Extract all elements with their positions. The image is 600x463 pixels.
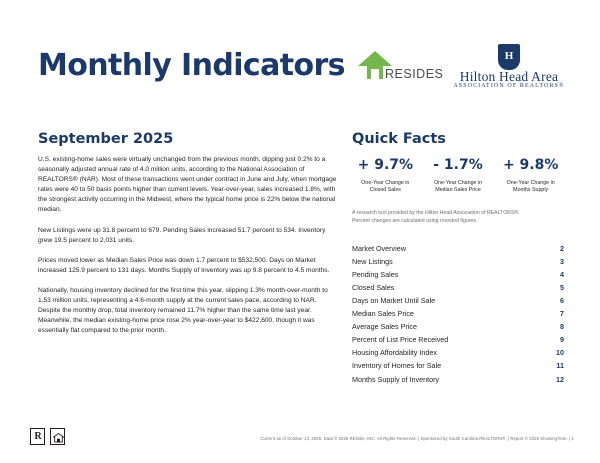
paragraph-1: U.S. existing-home sales were virtually …	[38, 155, 338, 216]
toc-label: Average Sales Price	[352, 320, 417, 333]
resides-logo: RESIDES	[358, 45, 432, 91]
toc-page: 5	[560, 281, 564, 294]
toc-item-average-sales-price[interactable]: Average Sales Price 8	[352, 320, 564, 333]
footer-text: Current as of October 13, 2025. Data © 2…	[260, 436, 574, 441]
quick-facts-note: A research tool provided by the Hilton H…	[352, 210, 564, 225]
quick-facts-column: Quick Facts + 9.7% One-Year Change in Cl…	[352, 131, 564, 386]
toc-item-percent-of-list-price-received[interactable]: Percent of List Price Received 9	[352, 333, 564, 346]
quick-fact-months-supply: + 9.8% One-Year Change in Months Supply	[497, 157, 564, 194]
quick-fact-label: One-Year Change in Closed Sales	[352, 180, 419, 194]
equal-housing-glyph	[53, 433, 64, 443]
toc-item-pending-sales[interactable]: Pending Sales 4	[352, 268, 564, 281]
toc-item-housing-affordability-index[interactable]: Housing Affordability Index 10	[352, 346, 564, 359]
shield-letter: H	[505, 50, 514, 62]
toc-page: 9	[560, 333, 564, 346]
article-column: September 2025 U.S. existing-home sales …	[38, 131, 338, 346]
toc-item-closed-sales[interactable]: Closed Sales 5	[352, 281, 564, 294]
toc-item-months-supply-of-inventory[interactable]: Months Supply of Inventory 12	[352, 373, 564, 386]
toc-label: Inventory of Homes for Sale	[352, 359, 441, 372]
equal-housing-icon	[50, 428, 65, 445]
hha-subtitle: ASSOCIATION OF REALTORS®	[446, 83, 572, 89]
toc-page: 12	[556, 373, 564, 386]
toc-label: Median Sales Price	[352, 307, 414, 320]
toc-label: Percent of List Price Received	[352, 333, 448, 346]
quick-fact-value: + 9.8%	[497, 157, 564, 173]
toc-page: 11	[556, 359, 564, 372]
month-heading: September 2025	[38, 131, 338, 147]
quick-fact-median-sales-price: - 1.7% One-Year Change in Median Sales P…	[425, 157, 492, 194]
toc-page: 8	[560, 320, 564, 333]
quick-fact-label: One-Year Change in Median Sales Price	[425, 180, 492, 194]
toc-label: Months Supply of Inventory	[352, 373, 439, 386]
resides-wordmark: RESIDES	[385, 67, 443, 81]
toc-item-days-on-market-until-sale[interactable]: Days on Market Until Sale 6	[352, 294, 564, 307]
toc-item-inventory-of-homes-for-sale[interactable]: Inventory of Homes for Sale 11	[352, 359, 564, 372]
paragraph-3: Prices moved lower as Median Sales Price…	[38, 256, 338, 276]
toc-page: 2	[560, 242, 564, 255]
quick-fact-value: - 1.7%	[425, 157, 492, 173]
hilton-head-area-logo: H Hilton Head Area ASSOCIATION OF REALTO…	[446, 44, 572, 92]
toc-label: Pending Sales	[352, 268, 398, 281]
toc-page: 10	[556, 346, 564, 359]
realtor-icon-letter: R	[35, 431, 42, 443]
quick-facts-heading: Quick Facts	[352, 131, 564, 147]
quick-fact-closed-sales: + 9.7% One-Year Change in Closed Sales	[352, 157, 419, 194]
quick-fact-label: One-Year Change in Months Supply	[497, 180, 564, 194]
footer-logos: R	[30, 428, 65, 445]
toc-label: New Listings	[352, 255, 393, 268]
quick-facts-row: + 9.7% One-Year Change in Closed Sales -…	[352, 157, 564, 194]
house-door-icon	[371, 69, 379, 79]
toc-page: 7	[560, 307, 564, 320]
toc-label: Days on Market Until Sale	[352, 294, 435, 307]
toc-label: Market Overview	[352, 242, 406, 255]
table-of-contents: Market Overview 2 New Listings 3 Pending…	[352, 242, 564, 386]
house-roof-icon	[358, 51, 392, 66]
paragraph-2: New Listings were up 31.8 percent to 679…	[38, 226, 338, 246]
toc-page: 4	[560, 268, 564, 281]
paragraph-4: Nationally, housing inventory declined f…	[38, 286, 338, 336]
document-page: Monthly Indicators RESIDES H Hilton Head…	[0, 0, 600, 463]
toc-item-market-overview[interactable]: Market Overview 2	[352, 242, 564, 255]
realtor-icon: R	[30, 428, 45, 445]
toc-page: 6	[560, 294, 564, 307]
toc-label: Housing Affordability Index	[352, 346, 437, 359]
toc-item-new-listings[interactable]: New Listings 3	[352, 255, 564, 268]
toc-page: 3	[560, 255, 564, 268]
quick-fact-value: + 9.7%	[352, 157, 419, 173]
toc-item-median-sales-price[interactable]: Median Sales Price 7	[352, 307, 564, 320]
toc-label: Closed Sales	[352, 281, 394, 294]
logo-group: RESIDES H Hilton Head Area ASSOCIATION O…	[358, 44, 572, 92]
page-title: Monthly Indicators	[38, 48, 345, 83]
